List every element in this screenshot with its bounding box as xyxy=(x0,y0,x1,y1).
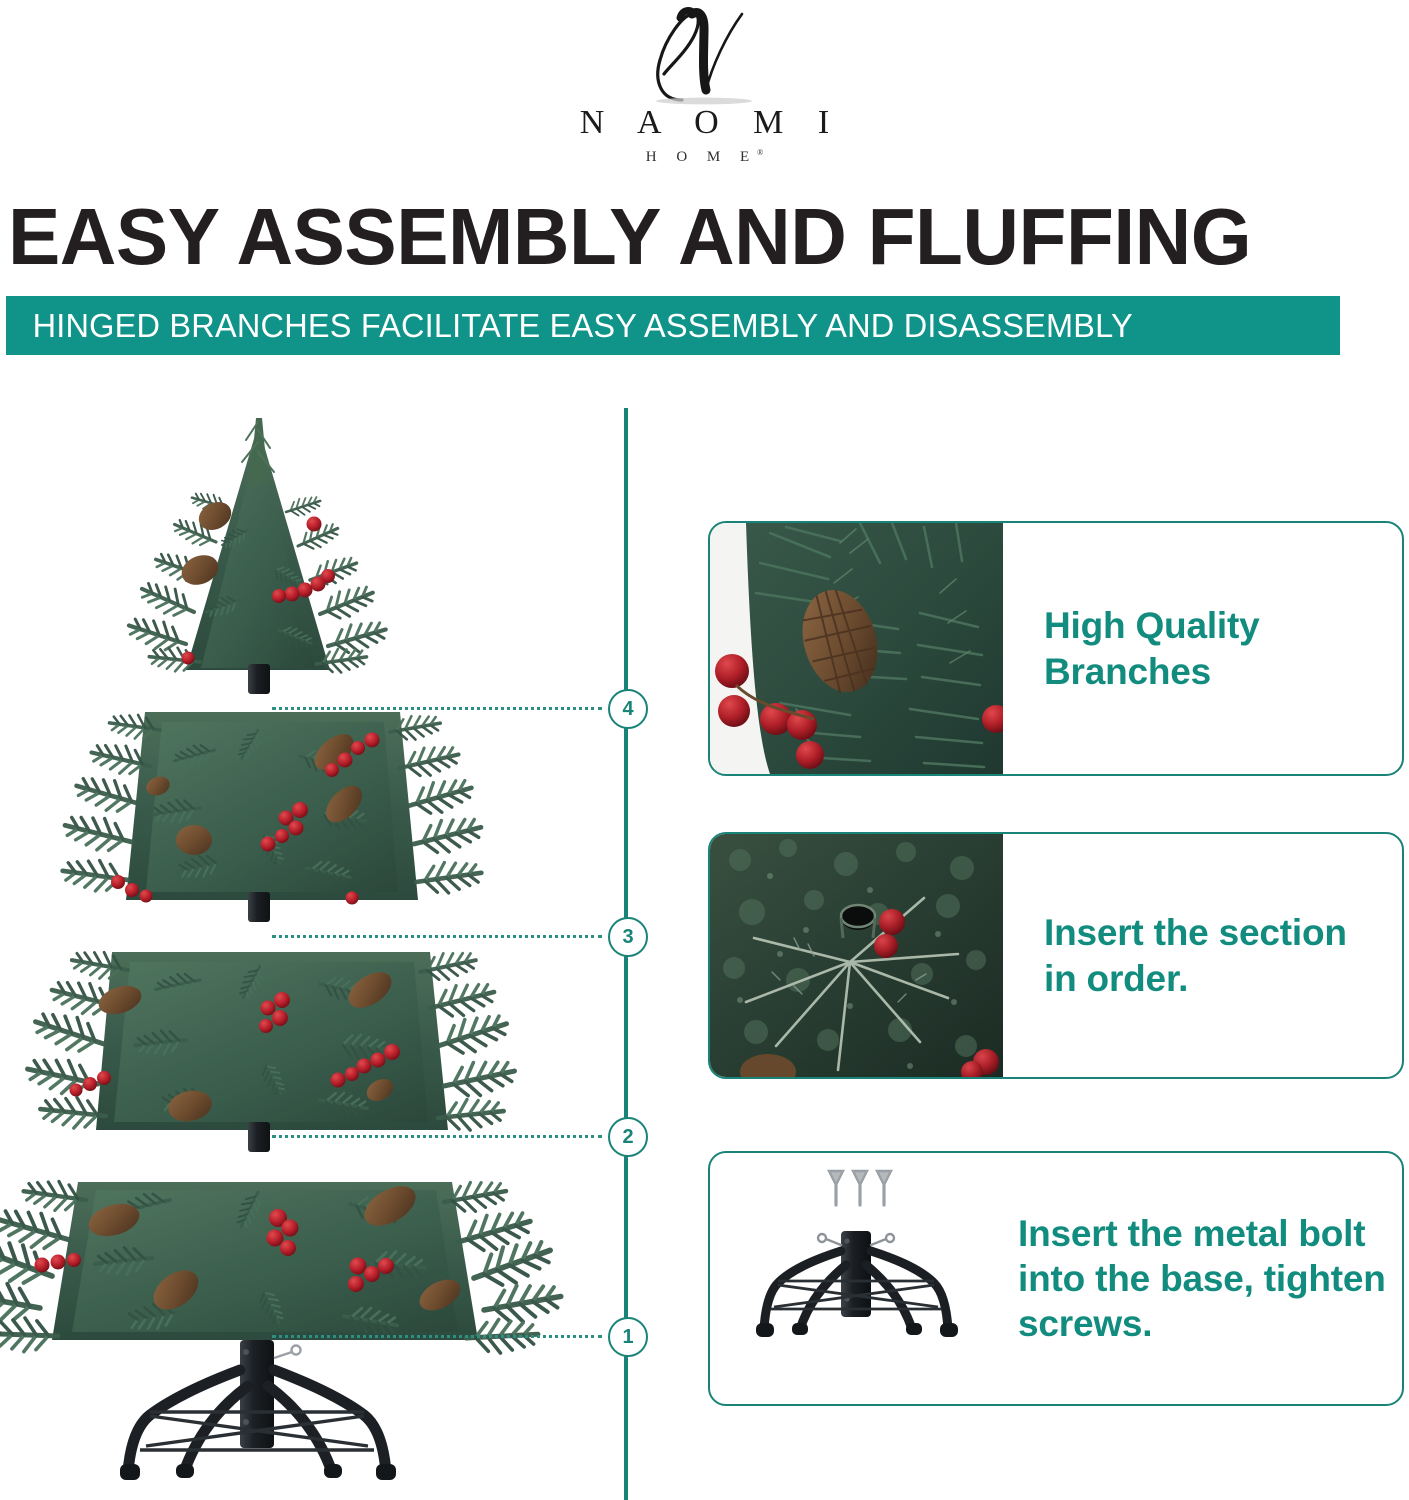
timeline-node-1[interactable]: 1 xyxy=(608,1317,648,1357)
tree-section-1 xyxy=(0,1177,564,1355)
timeline-node-3[interactable]: 3 xyxy=(608,917,648,957)
registered-mark: ® xyxy=(757,148,771,157)
brand-tagline: H O M E® xyxy=(638,149,772,165)
leader-line-3 xyxy=(272,935,602,938)
subheading-band: HINGED BRANCHES FACILITATE EASY ASSEMBLY… xyxy=(6,296,1340,355)
timeline-node-label: 2 xyxy=(622,1126,633,1149)
feature-card-insert-section[interactable]: Insert the section in order. xyxy=(708,832,1404,1079)
card-text-area: High Quality Branches xyxy=(1003,523,1402,774)
pole-stub xyxy=(248,892,270,922)
branch-closeup-photo xyxy=(710,523,1003,774)
tree-section-2 xyxy=(24,947,518,1152)
tree-stand-illustration xyxy=(710,1153,1010,1404)
pole-stub xyxy=(248,664,270,694)
brand-logo: N A O M I H O M E® xyxy=(0,4,1409,184)
naomi-script-n-monogram-icon xyxy=(620,4,790,104)
tree-section-3 xyxy=(60,711,484,922)
leader-line-1 xyxy=(272,1335,602,1338)
page-title: EASY ASSEMBLY AND FLUFFING xyxy=(8,197,1360,277)
tree-section-4 xyxy=(125,418,390,694)
card-title: High Quality Branches xyxy=(1044,603,1386,693)
card-title: Insert the metal bolt into the base, tig… xyxy=(1018,1211,1386,1346)
timeline-node-2[interactable]: 2 xyxy=(608,1117,648,1157)
pole-stub xyxy=(248,1122,270,1152)
thumb-screw-icon xyxy=(829,1171,891,1205)
leader-line-4 xyxy=(272,707,602,710)
timeline-node-4[interactable]: 4 xyxy=(608,689,648,729)
leader-line-2 xyxy=(272,1135,602,1138)
thumb-screw-icon xyxy=(274,1346,301,1359)
timeline-node-label: 4 xyxy=(622,698,633,721)
timeline-node-label: 3 xyxy=(622,926,633,949)
card-title: Insert the section in order. xyxy=(1044,910,1386,1000)
timeline-node-label: 1 xyxy=(622,1326,633,1349)
feature-card-insert-metal-bolt[interactable]: Insert the metal bolt into the base, tig… xyxy=(708,1151,1404,1406)
feature-card-high-quality-branches[interactable]: High Quality Branches xyxy=(708,521,1404,776)
subheading-text: HINGED BRANCHES FACILITATE EASY ASSEMBLY… xyxy=(6,307,1133,345)
pole-socket-photo xyxy=(710,834,1003,1077)
metal-tree-stand xyxy=(120,1340,396,1480)
card-text-area: Insert the metal bolt into the base, tig… xyxy=(1010,1153,1402,1404)
card-text-area: Insert the section in order. xyxy=(1003,834,1402,1077)
brand-name: N A O M I xyxy=(567,106,842,140)
